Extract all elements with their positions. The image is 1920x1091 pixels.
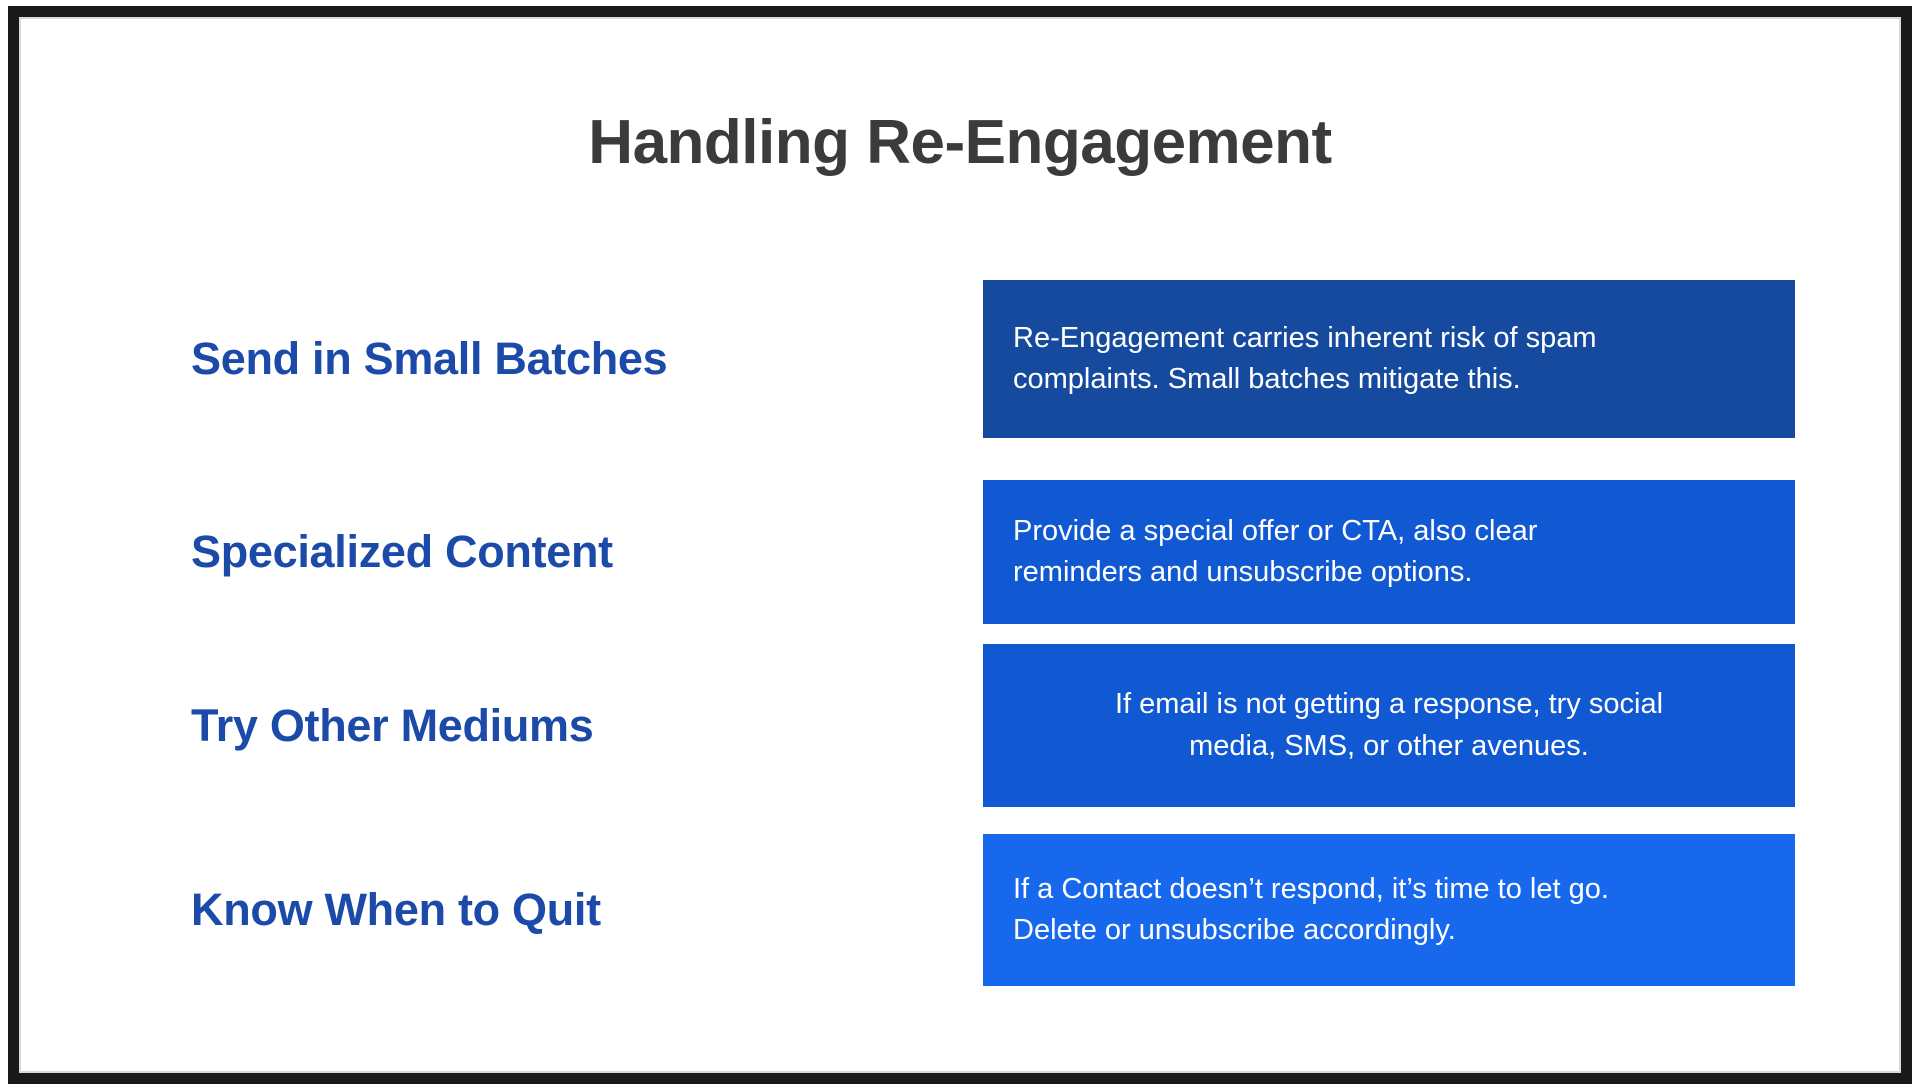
row-description-box-1: Re-Engagement carries inherent risk of s… <box>983 280 1795 438</box>
content-row: Send in Small Batches Re-Engagement carr… <box>21 274 1899 454</box>
row-description-line: Delete or unsubscribe accordingly. <box>1013 910 1765 951</box>
row-label-specialized-content: Specialized Content <box>191 480 613 624</box>
row-description-line: Provide a special offer or CTA, also cle… <box>1013 511 1765 552</box>
row-description-box-4: If a Contact doesn’t respond, it’s time … <box>983 834 1795 986</box>
row-label-send-in-small-batches: Send in Small Batches <box>191 280 667 438</box>
slide-frame: Handling Re-Engagement Send in Small Bat… <box>8 6 1912 1084</box>
row-description-line: complaints. Small batches mitigate this. <box>1013 359 1765 400</box>
content-row: Specialized Content Provide a special of… <box>21 454 1899 634</box>
row-description-box-2: Provide a special offer or CTA, also cle… <box>983 480 1795 624</box>
row-description-line: If email is not getting a response, try … <box>1013 684 1765 725</box>
row-description-line: Re-Engagement carries inherent risk of s… <box>1013 318 1765 359</box>
row-description-box-3: If email is not getting a response, try … <box>983 644 1795 807</box>
page-title: Handling Re-Engagement <box>21 107 1899 178</box>
row-label-try-other-mediums: Try Other Mediums <box>191 644 594 807</box>
content-rows: Send in Small Batches Re-Engagement carr… <box>21 274 1899 994</box>
content-row: Try Other Mediums If email is not gettin… <box>21 634 1899 814</box>
slide-canvas: Handling Re-Engagement Send in Small Bat… <box>19 17 1901 1073</box>
row-label-know-when-to-quit: Know When to Quit <box>191 834 601 986</box>
content-row: Know When to Quit If a Contact doesn’t r… <box>21 814 1899 994</box>
row-description-line: media, SMS, or other avenues. <box>1013 726 1765 767</box>
row-description-line: If a Contact doesn’t respond, it’s time … <box>1013 869 1765 910</box>
row-description-line: reminders and unsubscribe options. <box>1013 552 1765 593</box>
